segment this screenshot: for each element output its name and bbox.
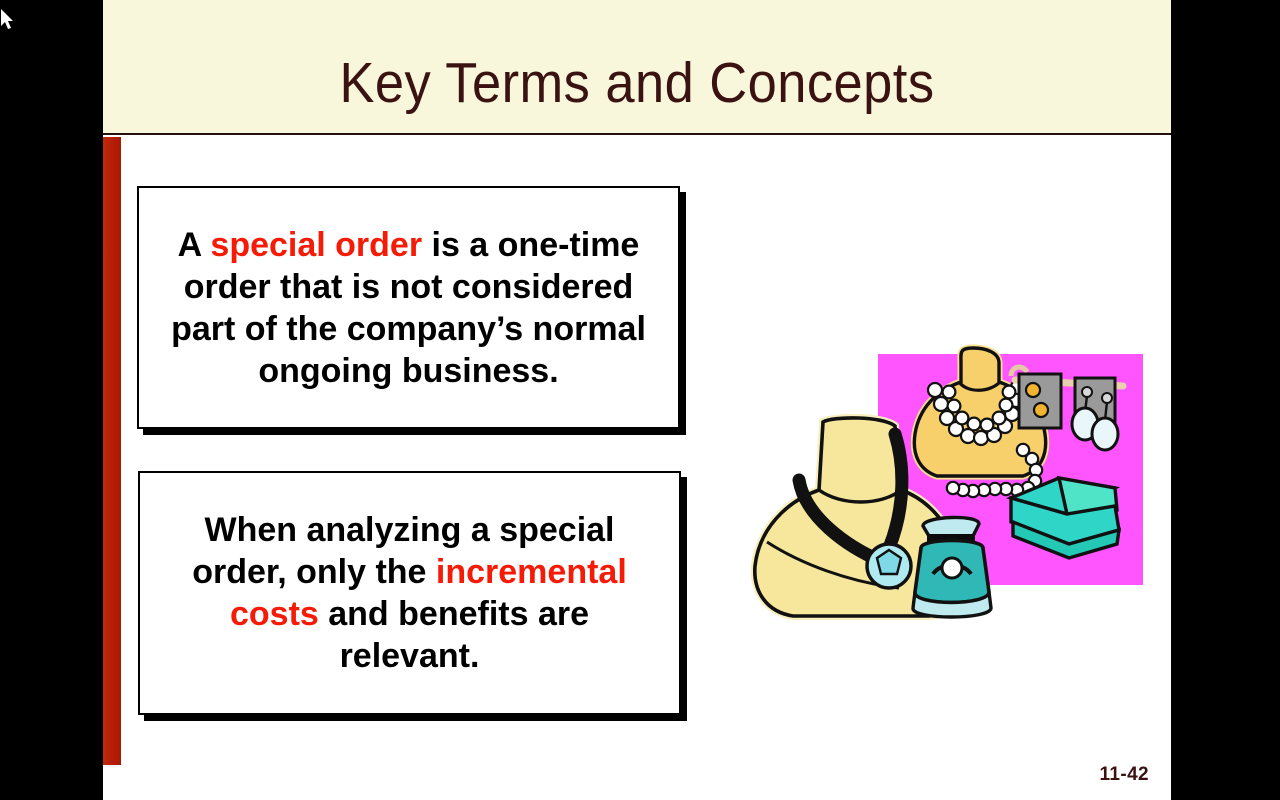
incremental-costs-definition-box: When analyzing a special order, only the… [138, 471, 681, 715]
jewelry-display-clipart [723, 330, 1143, 630]
teardrop-earring [1092, 418, 1118, 450]
slide-header-band: Key Terms and Concepts [103, 0, 1171, 135]
letterbox-stage: Key Terms and Concepts A special order i… [0, 0, 1280, 800]
incremental-costs-definition-text: When analyzing a special order, only the… [140, 509, 679, 677]
ring-gem [942, 558, 962, 578]
presentation-slide: Key Terms and Concepts A special order i… [103, 0, 1171, 800]
text-segment: and benefits are relevant. [319, 595, 589, 675]
special-order-definition-box: A special order is a one-time order that… [137, 186, 680, 429]
left-accent-bar [103, 137, 121, 765]
mouse-pointer-cursor [0, 8, 16, 32]
slide-number: 11-42 [1099, 764, 1149, 786]
gem-pendant [867, 544, 911, 588]
highlighted-term-special-order: special order [210, 226, 422, 264]
special-order-definition-text: A special order is a one-time order that… [139, 224, 678, 392]
page-title: Key Terms and Concepts [146, 54, 1129, 112]
earring-card-left [1019, 374, 1061, 428]
text-segment: A [178, 226, 211, 264]
